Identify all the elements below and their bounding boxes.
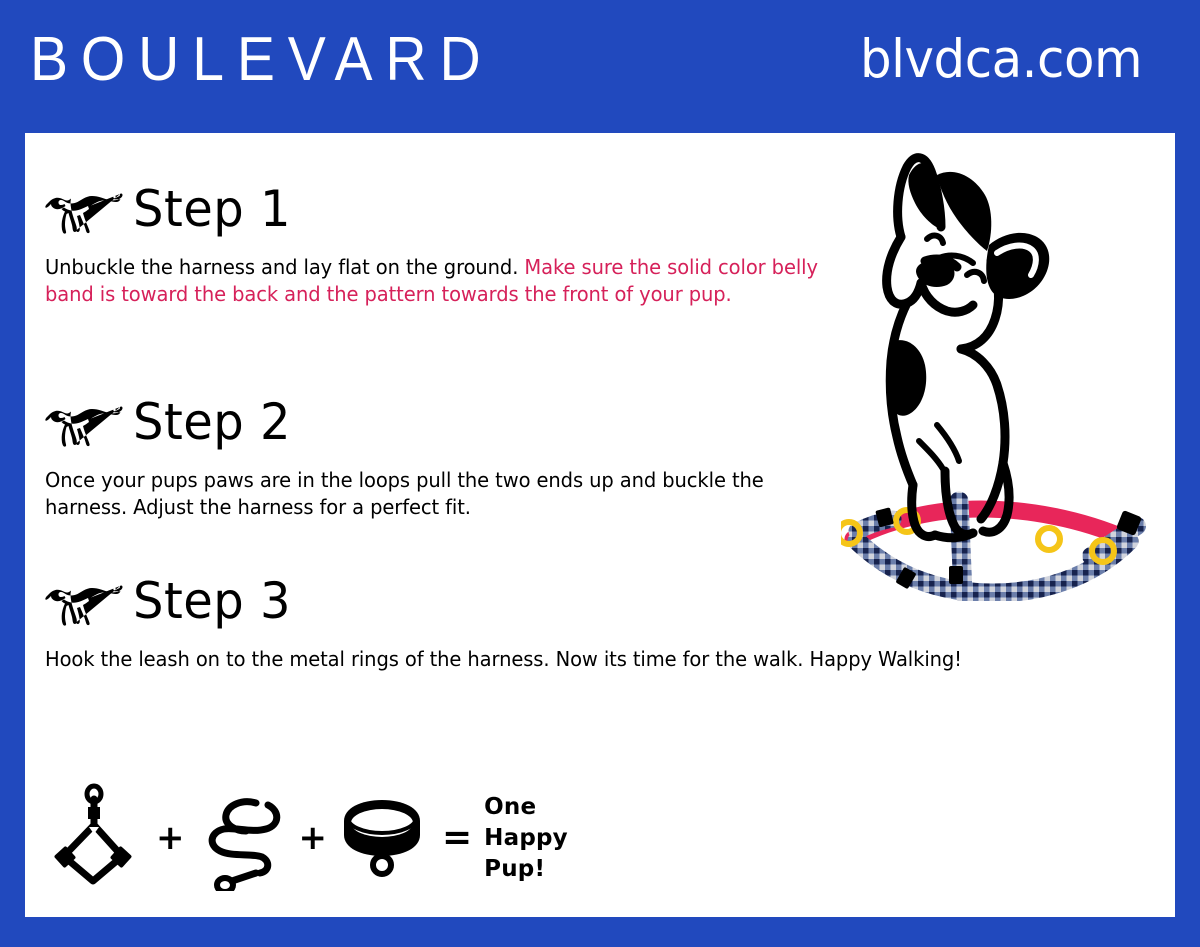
step-1-title: Step 1 (133, 181, 291, 237)
step-2-heading: Step 2 (45, 391, 825, 453)
header-banner: BOULEVARD blvdca.com (0, 0, 1200, 133)
dog-harness-icon (47, 783, 147, 893)
brand-wordmark: BOULEVARD (30, 24, 494, 96)
step-3-title: Step 3 (133, 573, 291, 629)
website-url[interactable]: blvdca.com (860, 26, 1142, 94)
step-1-body-plain: Unbuckle the harness and lay flat on the… (45, 255, 524, 279)
step-1-heading: Step 1 (45, 178, 885, 240)
french-bulldog-wearing-harness-illustration (841, 141, 1171, 601)
result-label: One Happy Pup! (484, 792, 568, 885)
step-2-title: Step 2 (133, 394, 291, 450)
pointer-dog-icon (45, 397, 123, 447)
content-panel: Step 1 Unbuckle the harness and lay flat… (25, 133, 1175, 917)
step-block-1: Step 1 Unbuckle the harness and lay flat… (39, 178, 885, 307)
step-1-body: Unbuckle the harness and lay flat on the… (45, 254, 864, 307)
product-equation-row: + + (47, 778, 568, 898)
dog-leash-icon (194, 785, 290, 891)
plus-sign-two: + (290, 821, 337, 855)
step-block-2: Step 2 Once your pups paws are in the lo… (39, 391, 825, 520)
pointer-dog-icon (45, 184, 123, 234)
plus-sign-one: + (147, 821, 194, 855)
dog-collar-icon (336, 795, 428, 881)
step-3-body: Hook the leash on to the metal rings of … (45, 646, 962, 673)
pointer-dog-icon (45, 576, 123, 626)
equals-sign: = (428, 820, 484, 856)
step-2-body: Once your pups paws are in the loops pul… (45, 467, 806, 520)
poster-root: BOULEVARD blvdca.com Step 1 Unbuckle the… (0, 0, 1200, 947)
